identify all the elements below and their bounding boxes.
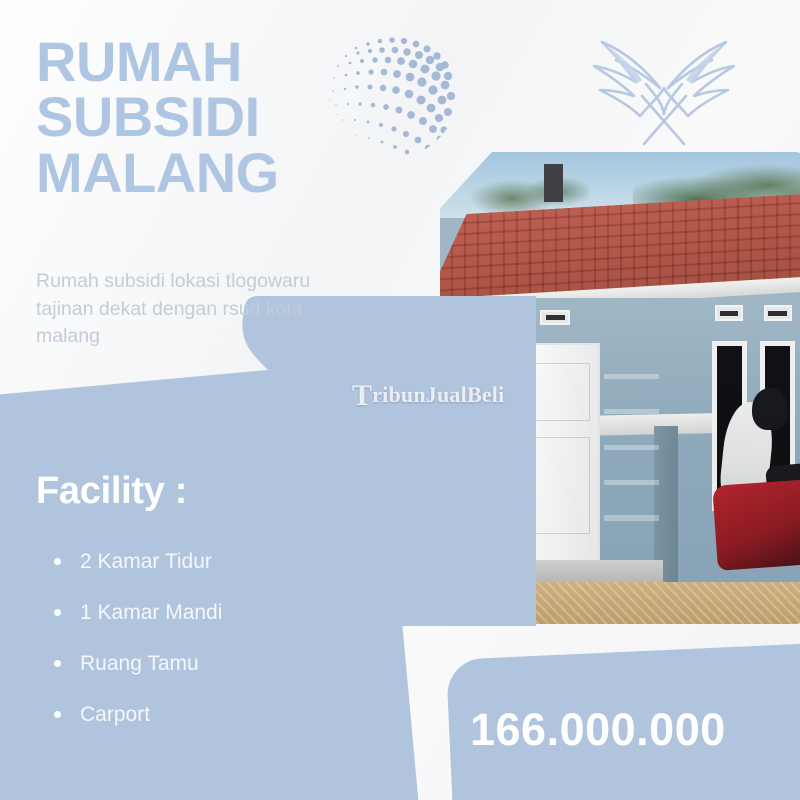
list-item: Ruang Tamu bbox=[80, 653, 366, 674]
bullet-icon bbox=[54, 609, 61, 616]
headline-line-1: RUMAH bbox=[36, 34, 366, 89]
facility-item-label: Ruang Tamu bbox=[80, 652, 199, 675]
facility-item-label: 2 Kamar Tidur bbox=[80, 550, 212, 573]
list-item: 1 Kamar Mandi bbox=[80, 602, 366, 623]
facility-list: 2 Kamar Tidur 1 Kamar Mandi Ruang Tamu C… bbox=[36, 551, 366, 725]
watermark-text: ribunJualBeli bbox=[372, 382, 504, 407]
watermark: TribunJualBeli bbox=[352, 382, 504, 408]
facility-item-label: 1 Kamar Mandi bbox=[80, 601, 222, 624]
facility-heading: Facility : bbox=[36, 470, 366, 513]
subtitle-text: Rumah subsidi lokasi tlogowaru tajinan d… bbox=[36, 268, 312, 351]
bullet-icon bbox=[54, 558, 61, 565]
list-item: 2 Kamar Tidur bbox=[80, 551, 366, 572]
facility-section: Facility : 2 Kamar Tidur 1 Kamar Mandi R… bbox=[36, 470, 366, 755]
page-title: RUMAH SUBSIDI MALANG bbox=[36, 34, 366, 200]
watermark-initial: T bbox=[352, 379, 372, 412]
list-item: Carport bbox=[80, 704, 366, 725]
facility-item-label: Carport bbox=[80, 703, 150, 726]
price-value: 166.000.000 bbox=[470, 704, 726, 756]
bullet-icon bbox=[54, 711, 61, 718]
wings-logo-icon bbox=[576, 26, 752, 154]
headline-line-3: MALANG bbox=[36, 145, 366, 200]
headline-line-2: SUBSIDI bbox=[36, 89, 366, 144]
bullet-icon bbox=[54, 660, 61, 667]
poster-canvas: RUMAH SUBSIDI MALANG Rumah subsidi lokas… bbox=[0, 0, 800, 800]
